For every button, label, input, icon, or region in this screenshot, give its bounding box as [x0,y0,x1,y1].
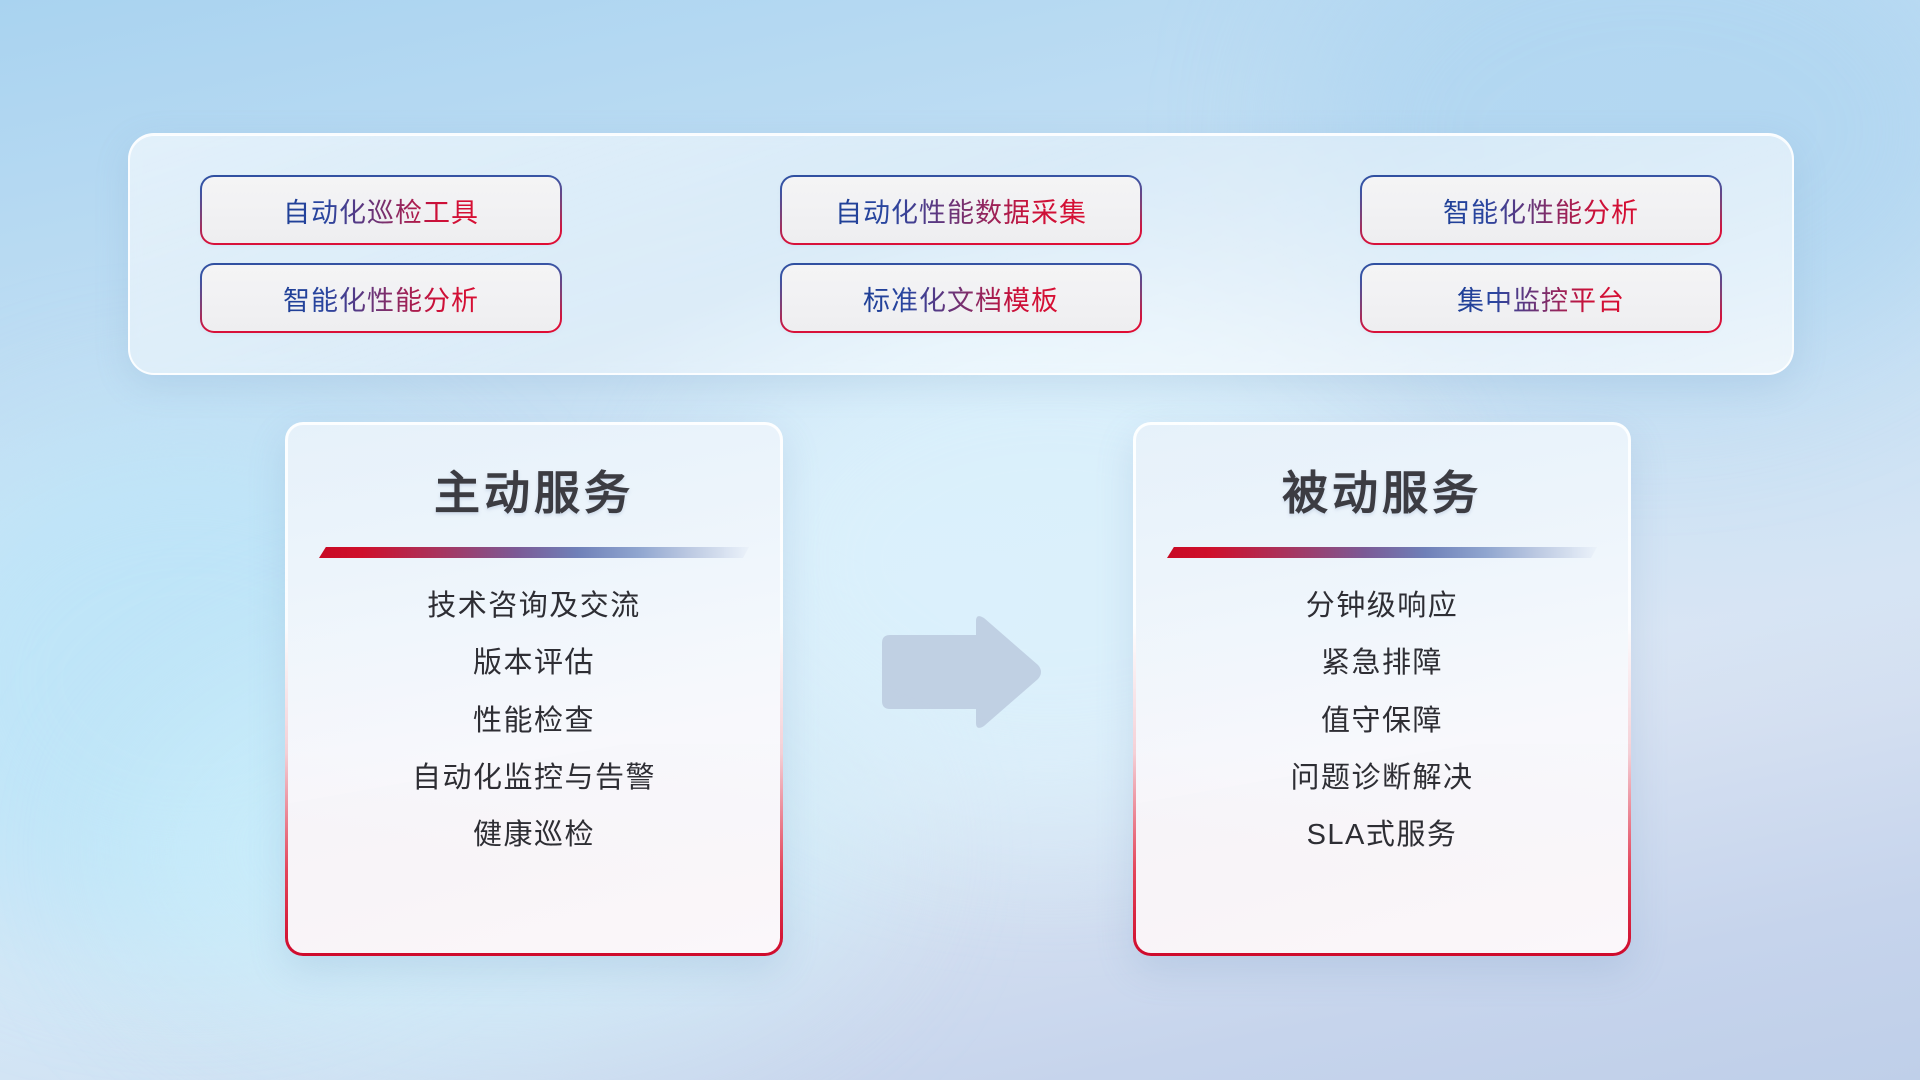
service-list-item: 问题诊断解决 [1290,760,1473,796]
service-card-title: 被动服务 [1282,457,1482,523]
title-underline-accent [319,547,749,558]
service-card-title: 主动服务 [434,457,634,523]
service-list-item: SLA式服务 [1307,817,1458,853]
service-list-item: 版本评估 [473,645,595,681]
service-list-item: 健康巡检 [473,817,595,853]
capability-tag-centralized-monitoring-platform[interactable]: 集中监控平台 [1362,265,1720,331]
capability-tag-label: 标准化文档模板 [863,279,1059,318]
service-item-list: 分钟级响应 紧急排障 值守保障 问题诊断解决 SLA式服务 [1136,588,1628,853]
service-card-body: 主动服务 技术咨询及交流 版本评估 性能检查 自动化监控与告警 健康巡检 [288,425,780,953]
service-list-item: 紧急排障 [1321,645,1443,681]
service-list-item: 分钟级响应 [1306,588,1459,624]
service-list-item: 性能检查 [473,703,595,739]
service-list-item: 技术咨询及交流 [427,588,641,624]
capability-tags-panel: 自动化巡检工具 自动化性能数据采集 智能化性能分析 智能化性能分析 标准化文档模… [128,133,1794,375]
service-list-item: 自动化监控与告警 [412,760,656,796]
capability-tag-automated-inspection-tool[interactable]: 自动化巡检工具 [202,177,560,243]
diagram-canvas: 自动化巡检工具 自动化性能数据采集 智能化性能分析 智能化性能分析 标准化文档模… [0,0,1920,1080]
service-list-item: 值守保障 [1321,703,1443,739]
flow-arrow [872,613,1044,731]
right-arrow-icon [872,613,1044,731]
capability-tag-row-1: 自动化巡检工具 自动化性能数据采集 智能化性能分析 [202,177,1720,243]
service-card-reactive[interactable]: 被动服务 分钟级响应 紧急排障 值守保障 问题诊断解决 SLA式服务 [1133,422,1631,956]
capability-tag-label: 智能化性能分析 [1443,191,1639,230]
service-card-proactive[interactable]: 主动服务 技术咨询及交流 版本评估 性能检查 自动化监控与告警 健康巡检 [285,422,783,956]
capability-tag-row-2: 智能化性能分析 标准化文档模板 集中监控平台 [202,265,1720,331]
capability-tag-intelligent-performance-analysis-2[interactable]: 智能化性能分析 [202,265,560,331]
service-item-list: 技术咨询及交流 版本评估 性能检查 自动化监控与告警 健康巡检 [288,588,780,853]
capability-tag-standardized-document-template[interactable]: 标准化文档模板 [782,265,1140,331]
service-card-body: 被动服务 分钟级响应 紧急排障 值守保障 问题诊断解决 SLA式服务 [1136,425,1628,953]
capability-tag-label: 智能化性能分析 [283,279,479,318]
capability-tag-label: 自动化性能数据采集 [835,191,1087,230]
title-underline-accent [1167,547,1597,558]
capability-tag-label: 集中监控平台 [1457,279,1625,318]
capability-tag-automated-performance-data-collection[interactable]: 自动化性能数据采集 [782,177,1140,243]
capability-tag-label: 自动化巡检工具 [283,191,479,230]
capability-tag-intelligent-performance-analysis[interactable]: 智能化性能分析 [1362,177,1720,243]
